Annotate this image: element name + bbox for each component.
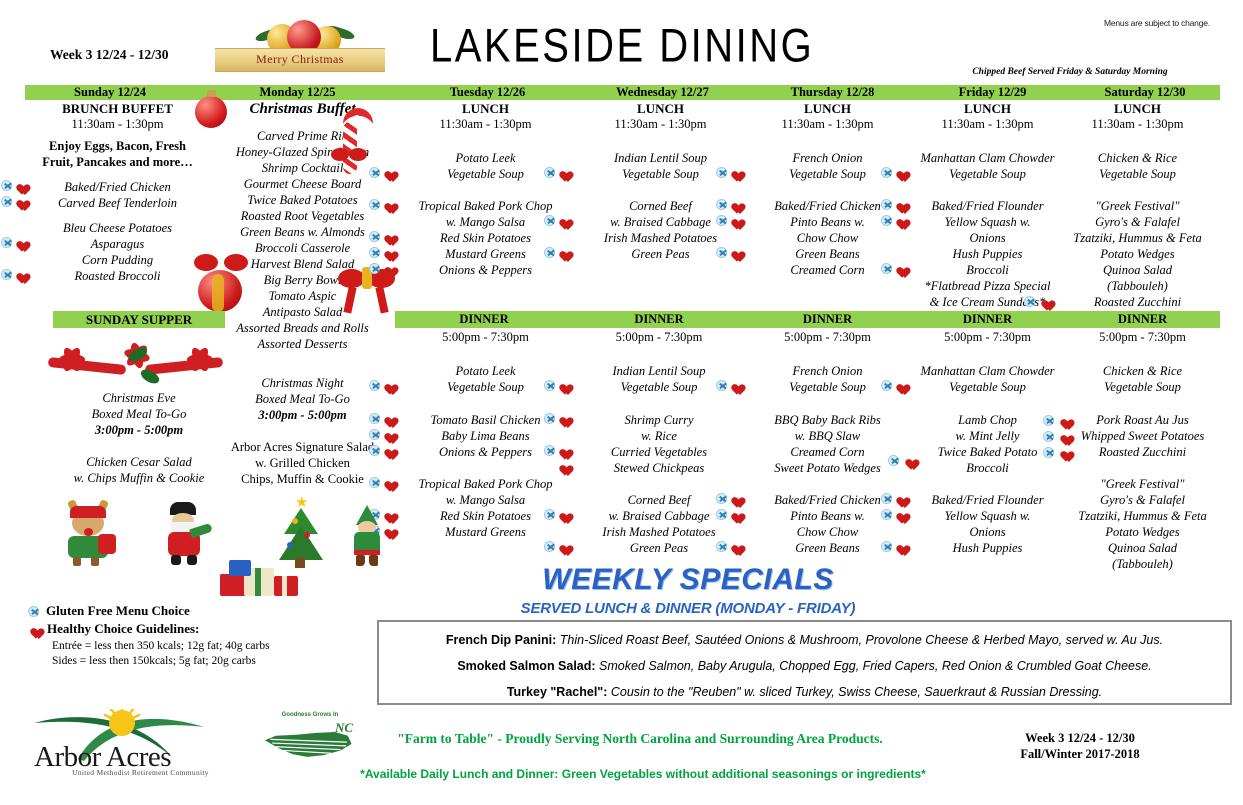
menu-item-label: Chicken & Rice <box>1098 151 1177 165</box>
row-icons <box>716 493 741 504</box>
menu-item: Baby Lima Beans <box>398 428 573 444</box>
row-icons <box>1 180 26 191</box>
menu-item: "Greek Festival" <box>1060 198 1215 214</box>
special-desc: Thin-Sliced Roast Beef, Sautéed Onions &… <box>560 633 1163 647</box>
menu-item-label: Mustard Greens <box>445 525 526 539</box>
column-wednesday-lunch: LUNCH 11:30am - 1:30pm Indian Lentil Sou… <box>573 101 748 262</box>
thursday-dinner-time: 5:00pm - 7:30pm <box>745 330 910 345</box>
menu-item: Gourmet Cheese Board <box>215 176 390 192</box>
gift-pile-icon <box>220 560 315 598</box>
row-icons <box>881 380 906 391</box>
row-icons <box>544 541 569 552</box>
menu-item: Carved Beef Tenderloin <box>30 195 205 211</box>
menu-item-label: Asparagus <box>91 237 144 251</box>
menu-item: Broccoli <box>910 460 1065 476</box>
menu-item-label: Potato Wedges <box>1100 247 1174 261</box>
healthy-heart-icon <box>557 445 569 456</box>
menu-item-label: Vegetable Soup <box>789 380 866 394</box>
sunday-supper-line-2: Boxed Meal To-Go <box>53 406 225 422</box>
row-icons <box>557 461 569 472</box>
healthy-heart-icon <box>382 231 394 242</box>
day-header-thursday: Thursday 12/28 <box>750 85 915 100</box>
bow-loop-left <box>331 148 349 161</box>
menu-item: "Greek Festival" <box>1065 476 1220 492</box>
gluten-free-icon <box>369 429 380 440</box>
menu-item-label: Assorted Breads and Rolls <box>236 321 369 335</box>
gluten-free-icon <box>881 541 892 552</box>
healthy-heart-icon <box>729 493 741 504</box>
elf-boot-right <box>369 555 378 566</box>
healthy-heart-icon <box>382 247 394 258</box>
healthy-heart-icon <box>382 413 394 424</box>
menu-item-label: Curried Vegetables <box>611 445 707 459</box>
menu-item: Tzatziki, Hummus & Feta <box>1060 230 1215 246</box>
menu-item-label: Baby Lima Beans <box>441 429 529 443</box>
row-icons <box>716 215 741 226</box>
sunday-supper-bar: SUNDAY SUPPER <box>53 311 225 328</box>
row-icons <box>544 215 569 226</box>
healthy-heart-icon <box>894 493 906 504</box>
menu-item-label: Broccoli <box>966 461 1009 475</box>
santa-icon <box>160 502 212 566</box>
gluten-free-icon <box>544 247 555 258</box>
menu-item-label: Chow Chow <box>797 525 858 539</box>
menu-item-label: Quinoa Salad <box>1108 541 1177 555</box>
weekly-specials-title: WEEKLY SPECIALS <box>478 563 898 597</box>
poinsettia-swag-icon <box>40 345 235 385</box>
footer-week-info: Week 3 12/24 - 12/30 Fall/Winter 2017-20… <box>955 730 1205 762</box>
menu-item-label: Roasted Broccoli <box>75 269 161 283</box>
available-daily-note: *Available Daily Lunch and Dinner: Green… <box>343 767 943 781</box>
healthy-heart-icon <box>382 477 394 488</box>
gluten-free-icon <box>716 167 727 178</box>
gluten-free-icon <box>1043 431 1054 442</box>
weekly-specials-box: French Dip Panini: Thin-Sliced Roast Bee… <box>377 620 1232 705</box>
gluten-free-icon <box>716 493 727 504</box>
menu-item-label: Quinoa Salad <box>1103 263 1172 277</box>
menu-item: Onions <box>910 230 1065 246</box>
footer-season: Fall/Winter 2017-2018 <box>955 746 1205 762</box>
row-icons <box>369 247 394 258</box>
column-saturday-lunch: LUNCH 11:30am - 1:30pm Chicken & Rice Ve… <box>1060 101 1215 310</box>
christmas-tree-icon: ★ <box>270 498 332 568</box>
row-icons <box>1 196 26 207</box>
row-icons <box>369 199 394 210</box>
saturday-dinner-time: 5:00pm - 7:30pm <box>1065 330 1220 345</box>
menu-item-label: (Tabbouleh) <box>1112 557 1173 571</box>
menu-item: w. BBQ Slaw <box>745 428 910 444</box>
healthy-heart-icon <box>729 541 741 552</box>
menu-item-label: Baked/Fried Flounder <box>931 493 1043 507</box>
menu-item-label: Vegetable Soup <box>621 380 698 394</box>
menu-item-label: "Greek Festival" <box>1101 477 1185 491</box>
menu-item: Sweet Potato Wedges <box>745 460 910 476</box>
menu-item: Roasted Root Vegetables <box>215 208 390 224</box>
row-icons <box>369 413 394 424</box>
gluten-free-icon <box>716 509 727 520</box>
saturday-lunch-time: 11:30am - 1:30pm <box>1060 117 1215 132</box>
dinner-bar-thursday: DINNER <box>745 311 910 328</box>
menu-item-label: Pinto Beans w. <box>790 509 864 523</box>
healthy-heart-icon <box>557 461 569 472</box>
spacer <box>573 345 745 363</box>
menu-item: Tzatziki, Hummus & Feta <box>1065 508 1220 524</box>
menu-item: Bleu Cheese Potatoes <box>30 220 205 236</box>
gluten-free-icon <box>369 247 380 258</box>
column-sunday-supper: Christmas Eve Boxed Meal To-Go 3:00pm - … <box>53 390 225 486</box>
menu-item: Vegetable Soup <box>1065 379 1220 395</box>
healthy-heart-icon <box>894 199 906 210</box>
menu-page: Menus are subject to change. Week 3 12/2… <box>0 0 1243 805</box>
menu-item-label: Tropical Baked Pork Chop <box>419 477 553 491</box>
menu-item: Assorted Breads and Rolls <box>215 320 390 336</box>
menu-item-label: Green Peas <box>631 247 689 261</box>
menu-item: Irish Mashed Potatoes <box>573 524 745 540</box>
menu-item-label: Big Berry Bowl <box>264 273 342 287</box>
row-icons <box>881 167 906 178</box>
row-icons <box>881 493 906 504</box>
special-name: Turkey "Rachel": <box>507 685 608 699</box>
row-icons <box>544 247 569 258</box>
gluten-free-icon <box>716 215 727 226</box>
menu-item-label: w. Mint Jelly <box>956 429 1020 443</box>
menu-item: Twice Baked Potatoes <box>215 192 390 208</box>
healthy-heart-icon <box>557 167 569 178</box>
menu-item: Mustard Greens <box>398 524 573 540</box>
menu-item: Whipped Sweet Potatoes <box>1065 428 1220 444</box>
healthy-heart-icon <box>729 215 741 226</box>
row-icons <box>369 429 394 440</box>
tuesday-dinner-time: 5:00pm - 7:30pm <box>398 330 573 345</box>
menu-item-label: Tzatziki, Hummus & Feta <box>1078 509 1206 523</box>
menu-item-label: Chow Chow <box>797 231 858 245</box>
column-friday-lunch: LUNCH 11:30am - 1:30pm Manhattan Clam Ch… <box>910 101 1065 310</box>
menu-item-label: Shrimp Curry <box>624 413 693 427</box>
row-icons <box>369 380 394 391</box>
healthy-heart-icon <box>557 215 569 226</box>
wednesday-lunch-heading: LUNCH <box>573 101 748 117</box>
column-thursday-lunch: LUNCH 11:30am - 1:30pm French Onion Vege… <box>745 101 910 278</box>
row-icons <box>369 263 394 274</box>
healthy-heart-icon <box>28 624 40 635</box>
dinner-bar-friday: DINNER <box>910 311 1065 328</box>
footer-week: Week 3 12/24 - 12/30 <box>955 730 1205 746</box>
spacer <box>745 395 910 412</box>
healthy-heart-icon <box>1039 296 1051 307</box>
menu-item: Broccoli <box>910 262 1065 278</box>
healthy-heart-icon <box>14 269 26 280</box>
gift-ribbon <box>255 568 261 596</box>
bow-loop-right <box>349 148 367 161</box>
spacer <box>573 395 745 412</box>
sunday-intro-line-1: Enjoy Eggs, Bacon, Fresh <box>30 138 205 154</box>
healthy-heart-icon <box>729 199 741 210</box>
menu-item-label: Tzatziki, Hummus & Feta <box>1073 231 1201 245</box>
menu-item-label: w. Braised Cabbage <box>609 509 710 523</box>
menu-item-label: Indian Lentil Soup <box>614 151 707 165</box>
menu-item-label: Chicken & Rice <box>1103 364 1182 378</box>
menu-item-label: Creamed Corn <box>790 263 864 277</box>
menu-item: w. Rice <box>573 428 745 444</box>
menu-item: Stewed Chickpeas <box>573 460 745 476</box>
tuesday-lunch-time: 11:30am - 1:30pm <box>398 117 573 132</box>
menu-item: Chicken Cesar Salad <box>53 454 225 470</box>
menu-item: Baked/Fried Chicken <box>30 179 205 195</box>
menu-item-label: Yellow Squash w. <box>945 509 1031 523</box>
day-header-sunday: Sunday 12/24 <box>25 85 195 100</box>
legend-healthy: Healthy Choice Guidelines: <box>28 621 358 637</box>
menu-item: Irish Mashed Potatoes <box>573 230 748 246</box>
chipped-beef-note: Chipped Beef Served Friday & Saturday Mo… <box>940 67 1200 77</box>
bow-loop-left <box>338 269 365 288</box>
arbor-acres-tagline: United Methodist Retirement Community <box>58 768 223 777</box>
friday-lunch-heading: LUNCH <box>910 101 1065 117</box>
menu-item-label: Stewed Chickpeas <box>614 461 705 475</box>
menu-item: Green Beans <box>745 246 910 262</box>
row-icons <box>369 477 394 488</box>
candy-cane-icon <box>325 102 371 164</box>
row-icons <box>881 263 906 274</box>
menu-item: w. Chips Muffin & Cookie <box>53 470 225 486</box>
menu-item: Chicken & Rice <box>1060 150 1215 166</box>
row-icons <box>369 167 394 178</box>
menu-item-label: Onions <box>969 525 1005 539</box>
menu-item-label: w. Mango Salsa <box>446 493 525 507</box>
sunday-lunch-heading: BRUNCH BUFFET <box>30 101 205 117</box>
gluten-free-icon <box>544 167 555 178</box>
menu-item: Potato Wedges <box>1065 524 1220 540</box>
gift-sack <box>98 534 116 554</box>
menu-item-label: Green Beans w. Almonds <box>240 225 365 239</box>
special-row: Turkey "Rachel": Cousin to the "Reuben" … <box>379 685 1230 699</box>
page-title: LAKESIDE DINING <box>430 20 830 73</box>
row-icons <box>369 231 394 242</box>
friday-sundae-icons <box>1024 294 1051 312</box>
healthy-heart-icon <box>894 380 906 391</box>
menu-item: (Tabbouleh) <box>1065 556 1220 572</box>
menu-item: Gyro's & Falafel <box>1065 492 1220 508</box>
wednesday-dinner-time: 5:00pm - 7:30pm <box>573 330 745 345</box>
special-row: French Dip Panini: Thin-Sliced Roast Bee… <box>379 633 1230 647</box>
gluten-free-icon <box>1043 415 1054 426</box>
gluten-free-icon <box>1 269 12 280</box>
row-icons <box>716 541 741 552</box>
gluten-free-icon <box>544 215 555 226</box>
menu-item: Onions <box>910 524 1065 540</box>
menu-item-label: Gourmet Cheese Board <box>244 177 362 191</box>
day-header-friday: Friday 12/29 <box>915 85 1070 100</box>
menu-item: French Onion <box>745 150 910 166</box>
menu-item: Corn Pudding <box>30 252 205 268</box>
menu-item: BBQ Baby Back Ribs <box>745 412 910 428</box>
healthy-heart-icon <box>894 167 906 178</box>
healthy-heart-icon <box>729 380 741 391</box>
healthy-heart-icon <box>557 541 569 552</box>
legend: Gluten Free Menu Choice Healthy Choice G… <box>28 603 358 669</box>
menu-item: w. Mint Jelly <box>910 428 1065 444</box>
menu-item-label: Roasted Zucchini <box>1094 295 1181 309</box>
day-header-tuesday: Tuesday 12/26 <box>400 85 575 100</box>
menu-item-label: Hush Puppies <box>953 541 1023 555</box>
menu-item-label: Assorted Desserts <box>258 337 348 351</box>
menu-item-label: Potato Wedges <box>1105 525 1179 539</box>
spacer <box>398 182 573 198</box>
spacer <box>910 345 1065 363</box>
gluten-free-icon <box>881 167 892 178</box>
spacer <box>1060 132 1215 150</box>
gluten-free-icon <box>369 263 380 274</box>
spacer <box>398 395 573 412</box>
healthy-heart-icon <box>382 380 394 391</box>
menu-item: Red Skin Potatoes <box>398 230 573 246</box>
gluten-free-icon <box>369 477 380 488</box>
farm-to-table-note: "Farm to Table" - Proudly Serving North … <box>375 731 905 747</box>
gluten-free-icon <box>369 445 380 456</box>
gluten-free-icon <box>1 237 12 248</box>
menu-item: Pork Roast Au Jus <box>1065 412 1220 428</box>
friday-dinner-time: 5:00pm - 7:30pm <box>910 330 1065 345</box>
legend-healthy-label: Healthy Choice Guidelines: <box>47 621 199 637</box>
elf-boot-left <box>356 555 365 566</box>
menu-item-label: Mustard Greens <box>445 247 526 261</box>
row-icons <box>544 413 569 424</box>
row-icons <box>716 380 741 391</box>
gluten-free-icon <box>28 606 39 617</box>
row-icons <box>369 445 394 456</box>
spacer <box>573 132 748 150</box>
leg-left <box>73 557 81 566</box>
menu-item: Curried Vegetables <box>573 444 745 460</box>
menu-item-label: Baked/Fried Flounder <box>931 199 1043 213</box>
gluten-free-icon <box>369 413 380 424</box>
healthy-heart-icon <box>382 429 394 440</box>
healthy-heart-icon <box>382 445 394 456</box>
gluten-free-icon <box>716 199 727 210</box>
menu-item-label: Vegetable Soup <box>1099 167 1176 181</box>
healthy-heart-icon <box>894 215 906 226</box>
gluten-free-icon <box>716 247 727 258</box>
spacer <box>910 182 1065 198</box>
menu-item: Yellow Squash w. <box>910 214 1065 230</box>
menu-item-label: Bleu Cheese Potatoes <box>63 221 172 235</box>
spacer <box>745 476 910 492</box>
menu-item: Assorted Desserts <box>215 336 390 352</box>
gluten-free-icon <box>881 263 892 274</box>
week-label: Week 3 12/24 - 12/30 <box>50 47 169 63</box>
dinner-bar-saturday: DINNER <box>1065 311 1220 328</box>
special-row: Smoked Salmon Salad: Smoked Salmon, Baby… <box>379 659 1230 673</box>
column-friday-dinner: 5:00pm - 7:30pm Manhattan Clam Chowder V… <box>910 330 1065 556</box>
menu-item: Asparagus <box>30 236 205 252</box>
spacer <box>1060 182 1215 198</box>
menu-item-label: Whipped Sweet Potatoes <box>1081 429 1205 443</box>
menu-item: Broccoli Casserole <box>215 240 390 256</box>
menu-item-label: Pinto Beans w. <box>790 215 864 229</box>
healthy-heart-icon <box>894 541 906 552</box>
bow-tail-left <box>343 286 356 313</box>
healthy-heart-icon <box>14 196 26 207</box>
monday-supper-line-1: Christmas Night <box>215 375 390 391</box>
gluten-free-icon <box>1024 296 1035 307</box>
friday-lunch-time: 11:30am - 1:30pm <box>910 117 1065 132</box>
gluten-free-icon <box>1 196 12 207</box>
gluten-free-icon <box>716 380 727 391</box>
bow-tail-right <box>375 286 388 313</box>
menu-item: Roasted Zucchini <box>1065 444 1220 460</box>
legend-entree-rule: Entrée = less then 350 kcals; 12g fat; 4… <box>52 639 358 654</box>
reindeer-nose <box>84 528 93 536</box>
menu-item: Potato Wedges <box>1060 246 1215 262</box>
menu-item: Manhattan Clam Chowder <box>910 150 1065 166</box>
gift-box-red <box>220 574 246 596</box>
arbor-acres-logo: Arbor Acres United Methodist Retirement … <box>22 705 222 777</box>
spacer <box>398 132 573 150</box>
menu-item-label: Vegetable Soup <box>789 167 866 181</box>
menu-item-label: Roasted Zucchini <box>1099 445 1186 459</box>
menu-item-label: Baked/Fried Chicken <box>64 180 171 194</box>
healthy-heart-icon <box>729 509 741 520</box>
healthy-heart-icon <box>382 167 394 178</box>
menu-item-label: Roasted Root Vegetables <box>241 209 365 223</box>
menu-item-label: w. Rice <box>641 429 677 443</box>
leg-right <box>91 557 99 566</box>
spacer <box>745 345 910 363</box>
menu-item: Indian Lentil Soup <box>573 150 748 166</box>
sunday-intro-line-2: Fruit, Pancakes and more… <box>30 154 205 170</box>
menu-item-label: Red Skin Potatoes <box>440 231 531 245</box>
menu-item: Potato Leek <box>398 150 573 166</box>
spacer <box>215 423 390 439</box>
dinner-bar-tuesday: DINNER <box>395 311 573 328</box>
menu-item: Quinoa Salad <box>1060 262 1215 278</box>
spacer <box>910 395 1065 412</box>
row-icons <box>1 269 26 280</box>
healthy-heart-icon <box>894 263 906 274</box>
wednesday-lunch-time: 11:30am - 1:30pm <box>573 117 748 132</box>
menu-item-label: Green Beans <box>795 247 859 261</box>
boot-left <box>171 555 181 565</box>
santa-hat <box>70 506 106 518</box>
sunday-supper-line-1: Christmas Eve <box>53 390 225 406</box>
reindeer-icon <box>60 500 116 566</box>
menu-item-label: Hush Puppies <box>953 247 1023 261</box>
menu-item-label: Lamb Chop <box>958 413 1017 427</box>
thursday-lunch-heading: LUNCH <box>745 101 910 117</box>
menu-item: Arbor Acres Signature Salad <box>215 439 390 455</box>
healthy-heart-icon <box>382 199 394 210</box>
healthy-heart-icon <box>14 180 26 191</box>
menu-item: Roasted Zucchini <box>1060 294 1215 310</box>
nc-initials: NC <box>335 720 353 736</box>
day-header-monday: Monday 12/25 <box>195 85 400 100</box>
ornament-cap <box>207 90 216 97</box>
menu-item-label: Potato Leek <box>455 364 515 378</box>
sunday-supper-time: 3:00pm - 5:00pm <box>53 422 225 438</box>
menu-item: Vegetable Soup <box>910 379 1065 395</box>
gluten-free-icon <box>369 380 380 391</box>
menu-item: Yellow Squash w. <box>910 508 1065 524</box>
menu-item: *Flatbread Pizza Special <box>910 278 1065 294</box>
menu-item-label: Creamed Corn <box>790 445 864 459</box>
menu-item: Quinoa Salad <box>1065 540 1220 556</box>
day-header-saturday: Saturday 12/30 <box>1070 85 1220 100</box>
column-wednesday-dinner: 5:00pm - 7:30pm Indian Lentil Soup Veget… <box>573 330 745 556</box>
gluten-free-icon <box>881 199 892 210</box>
gluten-free-icon <box>1 180 12 191</box>
menu-item-label: Vegetable Soup <box>1104 380 1181 394</box>
menu-item-label: Indian Lentil Soup <box>612 364 705 378</box>
menu-item-label: Green Peas <box>630 541 688 555</box>
